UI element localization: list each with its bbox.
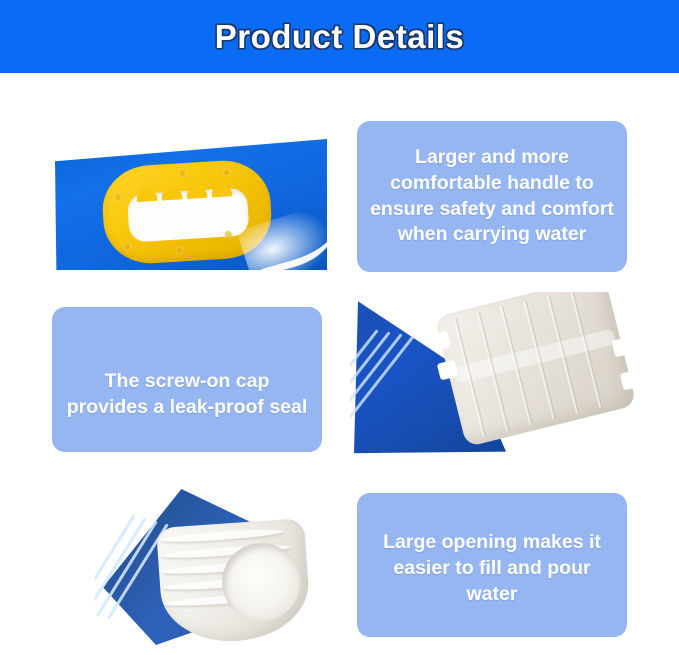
- yellow-handle-plate: [100, 158, 274, 266]
- handle-rivet: [222, 168, 230, 176]
- handle-rivet: [114, 193, 122, 201]
- product-image-large-opening: [95, 487, 345, 647]
- screw-cap: [434, 292, 635, 447]
- page-header-banner: Product Details: [0, 0, 679, 73]
- cap-notch: [620, 370, 635, 391]
- feature-caption-text: Larger and more comfortable handle to en…: [369, 145, 615, 248]
- feature-caption-text: The screw-on cap provides a leak-proof s…: [64, 369, 310, 420]
- handle-rivet: [175, 246, 183, 254]
- handle-rivet: [224, 230, 232, 238]
- feature-caption-card-cap: The screw-on cap provides a leak-proof s…: [52, 307, 322, 452]
- product-image-screw-cap: [350, 292, 635, 457]
- spout-mouth-inner: [230, 551, 292, 613]
- bag-blue-panel: [55, 139, 327, 270]
- product-image-handle: [52, 125, 330, 275]
- handle-rivet: [123, 242, 131, 250]
- feature-caption-card-opening: Large opening makes it easier to fill an…: [357, 493, 627, 637]
- cap-notch: [430, 331, 452, 352]
- page-title: Product Details: [215, 18, 465, 56]
- feature-caption-card-handle: Larger and more comfortable handle to en…: [357, 121, 627, 272]
- feature-caption-text: Large opening makes it easier to fill an…: [369, 530, 615, 607]
- handle-rivet: [178, 169, 186, 177]
- cap-notch: [611, 337, 633, 358]
